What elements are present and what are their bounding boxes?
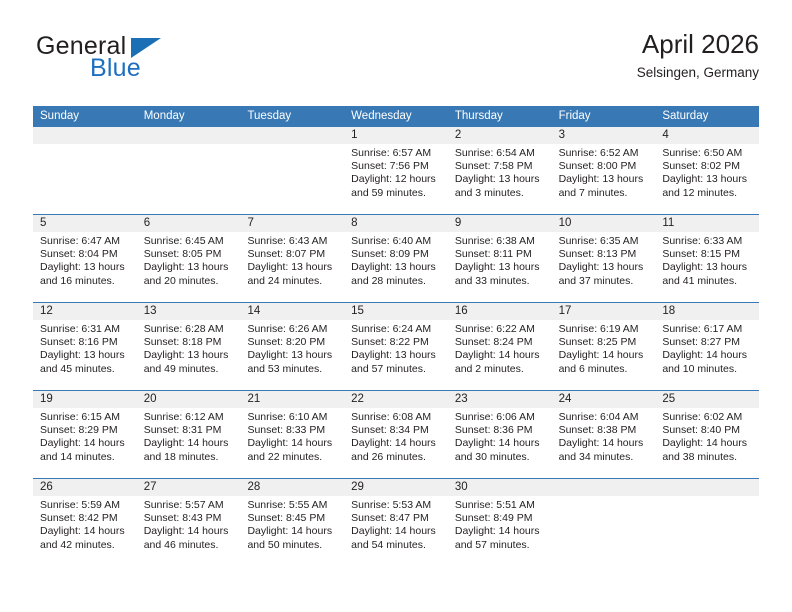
day-cell-29[interactable]: Sunrise: 5:53 AMSunset: 8:47 PMDaylight:… xyxy=(344,496,448,566)
day-info-line: and 45 minutes. xyxy=(40,363,130,376)
day-number-5[interactable]: 5 xyxy=(33,215,137,232)
day-info-line: Sunrise: 6:43 AM xyxy=(247,235,337,248)
day-info-line: Sunrise: 6:28 AM xyxy=(144,323,234,336)
day-cell-empty xyxy=(552,496,656,566)
day-info-line: Sunset: 8:07 PM xyxy=(247,248,337,261)
day-info-line: Daylight: 13 hours xyxy=(662,173,752,186)
day-info-line: and 3 minutes. xyxy=(455,187,545,200)
day-info-line: and 20 minutes. xyxy=(144,275,234,288)
day-info-line: Sunrise: 5:55 AM xyxy=(247,499,337,512)
day-cell-10[interactable]: Sunrise: 6:35 AMSunset: 8:13 PMDaylight:… xyxy=(552,232,656,302)
day-info-line: and 50 minutes. xyxy=(247,539,337,552)
day-info-line: Sunrise: 6:22 AM xyxy=(455,323,545,336)
day-info-line: Sunrise: 6:08 AM xyxy=(351,411,441,424)
day-number-11[interactable]: 11 xyxy=(655,215,759,232)
calendar-week-row: 19202122232425Sunrise: 6:15 AMSunset: 8:… xyxy=(33,390,759,478)
day-cell-empty xyxy=(240,144,344,214)
day-info-line: Sunrise: 6:02 AM xyxy=(662,411,752,424)
day-info-line: Daylight: 13 hours xyxy=(247,261,337,274)
day-cell-26[interactable]: Sunrise: 5:59 AMSunset: 8:42 PMDaylight:… xyxy=(33,496,137,566)
day-cell-3[interactable]: Sunrise: 6:52 AMSunset: 8:00 PMDaylight:… xyxy=(552,144,656,214)
day-info-line: Daylight: 13 hours xyxy=(455,173,545,186)
week-date-strip: 19202122232425 xyxy=(33,391,759,408)
day-info-line: Sunset: 7:58 PM xyxy=(455,160,545,173)
day-cell-empty xyxy=(33,144,137,214)
day-info-line: Sunrise: 6:52 AM xyxy=(559,147,649,160)
day-info-line: Sunrise: 6:50 AM xyxy=(662,147,752,160)
day-number-22[interactable]: 22 xyxy=(344,391,448,408)
brand-logo[interactable]: General Blue xyxy=(33,32,263,90)
day-of-week-header: SundayMondayTuesdayWednesdayThursdayFrid… xyxy=(33,106,759,127)
day-info-line: and 34 minutes. xyxy=(559,451,649,464)
page-title: April 2026 xyxy=(637,28,759,60)
day-info-line: Daylight: 13 hours xyxy=(351,349,441,362)
day-cell-4[interactable]: Sunrise: 6:50 AMSunset: 8:02 PMDaylight:… xyxy=(655,144,759,214)
day-number-empty xyxy=(552,479,656,496)
day-info-line: Daylight: 14 hours xyxy=(144,525,234,538)
day-cell-21[interactable]: Sunrise: 6:10 AMSunset: 8:33 PMDaylight:… xyxy=(240,408,344,478)
day-number-empty xyxy=(240,127,344,144)
day-cell-27[interactable]: Sunrise: 5:57 AMSunset: 8:43 PMDaylight:… xyxy=(137,496,241,566)
day-info-line: Sunrise: 6:12 AM xyxy=(144,411,234,424)
day-of-week-saturday: Saturday xyxy=(655,106,759,127)
day-info-line: Daylight: 13 hours xyxy=(40,349,130,362)
day-info-line: and 42 minutes. xyxy=(40,539,130,552)
day-number-7[interactable]: 7 xyxy=(240,215,344,232)
day-info-line: Sunrise: 6:10 AM xyxy=(247,411,337,424)
day-info-line: Sunset: 8:05 PM xyxy=(144,248,234,261)
day-info-line: Sunset: 8:00 PM xyxy=(559,160,649,173)
day-number-30[interactable]: 30 xyxy=(448,479,552,496)
day-cell-5[interactable]: Sunrise: 6:47 AMSunset: 8:04 PMDaylight:… xyxy=(33,232,137,302)
day-info-line: Sunrise: 6:17 AM xyxy=(662,323,752,336)
day-cell-11[interactable]: Sunrise: 6:33 AMSunset: 8:15 PMDaylight:… xyxy=(655,232,759,302)
day-info-line: and 37 minutes. xyxy=(559,275,649,288)
day-info-line: Daylight: 14 hours xyxy=(559,437,649,450)
day-number-16[interactable]: 16 xyxy=(448,303,552,320)
day-cell-22[interactable]: Sunrise: 6:08 AMSunset: 8:34 PMDaylight:… xyxy=(344,408,448,478)
calendar-page: General Blue April 2026 Selsingen, Germa… xyxy=(0,0,792,612)
day-cell-7[interactable]: Sunrise: 6:43 AMSunset: 8:07 PMDaylight:… xyxy=(240,232,344,302)
day-info-line: Sunset: 8:20 PM xyxy=(247,336,337,349)
day-cell-8[interactable]: Sunrise: 6:40 AMSunset: 8:09 PMDaylight:… xyxy=(344,232,448,302)
day-number-empty xyxy=(137,127,241,144)
day-info-line: Sunrise: 6:06 AM xyxy=(455,411,545,424)
day-info-line: and 46 minutes. xyxy=(144,539,234,552)
title-block: April 2026 Selsingen, Germany xyxy=(637,28,759,83)
calendar-weeks: 1234Sunrise: 6:57 AMSunset: 7:56 PMDayli… xyxy=(33,127,759,566)
day-info-line: Sunset: 7:56 PM xyxy=(351,160,441,173)
day-info-line: and 6 minutes. xyxy=(559,363,649,376)
day-info-line: and 41 minutes. xyxy=(662,275,752,288)
day-cell-empty xyxy=(137,144,241,214)
day-info-line: Daylight: 13 hours xyxy=(559,261,649,274)
day-info-line: and 54 minutes. xyxy=(351,539,441,552)
day-number-10[interactable]: 10 xyxy=(552,215,656,232)
day-number-6[interactable]: 6 xyxy=(137,215,241,232)
day-info-line: Daylight: 13 hours xyxy=(40,261,130,274)
day-info-line: and 22 minutes. xyxy=(247,451,337,464)
day-info-line: Daylight: 13 hours xyxy=(559,173,649,186)
day-number-3[interactable]: 3 xyxy=(552,127,656,144)
day-info-line: Daylight: 14 hours xyxy=(144,437,234,450)
day-number-9[interactable]: 9 xyxy=(448,215,552,232)
page-header: General Blue April 2026 Selsingen, Germa… xyxy=(33,28,759,100)
day-info-line: Sunset: 8:40 PM xyxy=(662,424,752,437)
day-info-line: Sunset: 8:24 PM xyxy=(455,336,545,349)
day-cell-23[interactable]: Sunrise: 6:06 AMSunset: 8:36 PMDaylight:… xyxy=(448,408,552,478)
day-number-23[interactable]: 23 xyxy=(448,391,552,408)
day-info-line: Daylight: 13 hours xyxy=(662,261,752,274)
day-number-8[interactable]: 8 xyxy=(344,215,448,232)
day-number-28[interactable]: 28 xyxy=(240,479,344,496)
day-info-line: and 7 minutes. xyxy=(559,187,649,200)
day-info-line: Sunset: 8:36 PM xyxy=(455,424,545,437)
day-cell-18[interactable]: Sunrise: 6:17 AMSunset: 8:27 PMDaylight:… xyxy=(655,320,759,390)
day-info-line: Sunset: 8:18 PM xyxy=(144,336,234,349)
day-info-line: Daylight: 14 hours xyxy=(351,437,441,450)
day-info-line: and 10 minutes. xyxy=(662,363,752,376)
day-info-line: Sunrise: 5:51 AM xyxy=(455,499,545,512)
calendar-week-row: 1234Sunrise: 6:57 AMSunset: 7:56 PMDayli… xyxy=(33,127,759,214)
day-of-week-tuesday: Tuesday xyxy=(240,106,344,127)
day-info-line: Sunrise: 5:59 AM xyxy=(40,499,130,512)
day-info-line: Sunset: 8:15 PM xyxy=(662,248,752,261)
day-number-20[interactable]: 20 xyxy=(137,391,241,408)
day-cell-24[interactable]: Sunrise: 6:04 AMSunset: 8:38 PMDaylight:… xyxy=(552,408,656,478)
day-info-line: and 18 minutes. xyxy=(144,451,234,464)
day-number-empty xyxy=(33,127,137,144)
day-info-line: Daylight: 14 hours xyxy=(662,349,752,362)
day-of-week-wednesday: Wednesday xyxy=(344,106,448,127)
day-info-line: Sunset: 8:09 PM xyxy=(351,248,441,261)
day-info-line: Daylight: 14 hours xyxy=(247,525,337,538)
day-info-line: Sunset: 8:49 PM xyxy=(455,512,545,525)
day-number-1[interactable]: 1 xyxy=(344,127,448,144)
calendar-grid: SundayMondayTuesdayWednesdayThursdayFrid… xyxy=(33,106,759,566)
day-info-line: Sunset: 8:04 PM xyxy=(40,248,130,261)
day-info-line: and 2 minutes. xyxy=(455,363,545,376)
day-info-line: Sunset: 8:43 PM xyxy=(144,512,234,525)
day-info-line: Daylight: 14 hours xyxy=(662,437,752,450)
day-info-line: and 24 minutes. xyxy=(247,275,337,288)
day-of-week-monday: Monday xyxy=(137,106,241,127)
day-info-line: Sunset: 8:47 PM xyxy=(351,512,441,525)
day-info-line: and 59 minutes. xyxy=(351,187,441,200)
day-cell-19[interactable]: Sunrise: 6:15 AMSunset: 8:29 PMDaylight:… xyxy=(33,408,137,478)
day-number-empty xyxy=(655,479,759,496)
day-cell-6[interactable]: Sunrise: 6:45 AMSunset: 8:05 PMDaylight:… xyxy=(137,232,241,302)
day-cell-16[interactable]: Sunrise: 6:22 AMSunset: 8:24 PMDaylight:… xyxy=(448,320,552,390)
day-info-line: Daylight: 13 hours xyxy=(144,261,234,274)
day-info-line: Sunrise: 6:47 AM xyxy=(40,235,130,248)
day-number-13[interactable]: 13 xyxy=(137,303,241,320)
day-info-line: and 28 minutes. xyxy=(351,275,441,288)
day-info-line: Daylight: 12 hours xyxy=(351,173,441,186)
day-info-line: Sunset: 8:38 PM xyxy=(559,424,649,437)
day-number-21[interactable]: 21 xyxy=(240,391,344,408)
day-info-line: Daylight: 13 hours xyxy=(144,349,234,362)
day-info-line: Sunrise: 6:54 AM xyxy=(455,147,545,160)
day-info-line: Sunrise: 6:31 AM xyxy=(40,323,130,336)
day-info-line: Sunset: 8:02 PM xyxy=(662,160,752,173)
day-cell-12[interactable]: Sunrise: 6:31 AMSunset: 8:16 PMDaylight:… xyxy=(33,320,137,390)
day-info-line: Sunrise: 6:57 AM xyxy=(351,147,441,160)
day-number-19[interactable]: 19 xyxy=(33,391,137,408)
week-detail-strip: Sunrise: 5:59 AMSunset: 8:42 PMDaylight:… xyxy=(33,496,759,566)
week-date-strip: 567891011 xyxy=(33,215,759,232)
day-info-line: and 30 minutes. xyxy=(455,451,545,464)
page-subtitle: Selsingen, Germany xyxy=(637,63,759,83)
day-info-line: Sunset: 8:22 PM xyxy=(351,336,441,349)
day-info-line: Sunset: 8:31 PM xyxy=(144,424,234,437)
day-number-15[interactable]: 15 xyxy=(344,303,448,320)
day-info-line: Daylight: 13 hours xyxy=(247,349,337,362)
day-info-line: Daylight: 14 hours xyxy=(455,437,545,450)
day-number-24[interactable]: 24 xyxy=(552,391,656,408)
day-cell-28[interactable]: Sunrise: 5:55 AMSunset: 8:45 PMDaylight:… xyxy=(240,496,344,566)
week-detail-strip: Sunrise: 6:57 AMSunset: 7:56 PMDaylight:… xyxy=(33,144,759,214)
day-info-line: Sunset: 8:13 PM xyxy=(559,248,649,261)
day-cell-empty xyxy=(655,496,759,566)
day-info-line: and 57 minutes. xyxy=(455,539,545,552)
day-info-line: Sunset: 8:25 PM xyxy=(559,336,649,349)
day-number-2[interactable]: 2 xyxy=(448,127,552,144)
day-info-line: and 26 minutes. xyxy=(351,451,441,464)
day-info-line: and 12 minutes. xyxy=(662,187,752,200)
day-info-line: Sunset: 8:42 PM xyxy=(40,512,130,525)
day-cell-1[interactable]: Sunrise: 6:57 AMSunset: 7:56 PMDaylight:… xyxy=(344,144,448,214)
day-number-27[interactable]: 27 xyxy=(137,479,241,496)
day-cell-2[interactable]: Sunrise: 6:54 AMSunset: 7:58 PMDaylight:… xyxy=(448,144,552,214)
day-info-line: Sunrise: 5:57 AM xyxy=(144,499,234,512)
day-info-line: Sunrise: 6:33 AM xyxy=(662,235,752,248)
day-info-line: and 38 minutes. xyxy=(662,451,752,464)
day-info-line: and 49 minutes. xyxy=(144,363,234,376)
day-info-line: Daylight: 14 hours xyxy=(455,525,545,538)
day-info-line: Sunrise: 6:19 AM xyxy=(559,323,649,336)
day-info-line: and 53 minutes. xyxy=(247,363,337,376)
day-info-line: and 14 minutes. xyxy=(40,451,130,464)
day-info-line: Sunrise: 6:45 AM xyxy=(144,235,234,248)
day-number-14[interactable]: 14 xyxy=(240,303,344,320)
calendar-week-row: 12131415161718Sunrise: 6:31 AMSunset: 8:… xyxy=(33,302,759,390)
day-number-17[interactable]: 17 xyxy=(552,303,656,320)
day-cell-30[interactable]: Sunrise: 5:51 AMSunset: 8:49 PMDaylight:… xyxy=(448,496,552,566)
day-number-26[interactable]: 26 xyxy=(33,479,137,496)
day-info-line: Sunrise: 5:53 AM xyxy=(351,499,441,512)
week-detail-strip: Sunrise: 6:15 AMSunset: 8:29 PMDaylight:… xyxy=(33,408,759,478)
day-cell-15[interactable]: Sunrise: 6:24 AMSunset: 8:22 PMDaylight:… xyxy=(344,320,448,390)
week-date-strip: 2627282930 xyxy=(33,479,759,496)
day-info-line: Daylight: 14 hours xyxy=(40,525,130,538)
calendar-week-row: 2627282930Sunrise: 5:59 AMSunset: 8:42 P… xyxy=(33,478,759,566)
day-info-line: and 57 minutes. xyxy=(351,363,441,376)
day-info-line: Sunrise: 6:04 AM xyxy=(559,411,649,424)
day-info-line: Sunrise: 6:24 AM xyxy=(351,323,441,336)
week-detail-strip: Sunrise: 6:47 AMSunset: 8:04 PMDaylight:… xyxy=(33,232,759,302)
day-number-4[interactable]: 4 xyxy=(655,127,759,144)
day-info-line: Daylight: 13 hours xyxy=(351,261,441,274)
day-of-week-sunday: Sunday xyxy=(33,106,137,127)
day-number-18[interactable]: 18 xyxy=(655,303,759,320)
day-number-29[interactable]: 29 xyxy=(344,479,448,496)
day-cell-20[interactable]: Sunrise: 6:12 AMSunset: 8:31 PMDaylight:… xyxy=(137,408,241,478)
day-cell-13[interactable]: Sunrise: 6:28 AMSunset: 8:18 PMDaylight:… xyxy=(137,320,241,390)
day-info-line: Sunset: 8:16 PM xyxy=(40,336,130,349)
brand-word-blue: Blue xyxy=(90,54,141,83)
day-cell-25[interactable]: Sunrise: 6:02 AMSunset: 8:40 PMDaylight:… xyxy=(655,408,759,478)
day-info-line: Daylight: 14 hours xyxy=(455,349,545,362)
day-info-line: and 33 minutes. xyxy=(455,275,545,288)
day-info-line: Sunrise: 6:15 AM xyxy=(40,411,130,424)
day-info-line: Daylight: 14 hours xyxy=(559,349,649,362)
day-info-line: Sunset: 8:45 PM xyxy=(247,512,337,525)
week-date-strip: 12131415161718 xyxy=(33,303,759,320)
week-detail-strip: Sunrise: 6:31 AMSunset: 8:16 PMDaylight:… xyxy=(33,320,759,390)
day-info-line: Sunset: 8:27 PM xyxy=(662,336,752,349)
day-info-line: Daylight: 14 hours xyxy=(247,437,337,450)
day-info-line: Sunrise: 6:35 AM xyxy=(559,235,649,248)
day-info-line: Sunset: 8:11 PM xyxy=(455,248,545,261)
day-cell-17[interactable]: Sunrise: 6:19 AMSunset: 8:25 PMDaylight:… xyxy=(552,320,656,390)
day-info-line: Daylight: 14 hours xyxy=(351,525,441,538)
day-of-week-thursday: Thursday xyxy=(448,106,552,127)
day-info-line: Sunset: 8:29 PM xyxy=(40,424,130,437)
day-info-line: Sunset: 8:33 PM xyxy=(247,424,337,437)
calendar-week-row: 567891011Sunrise: 6:47 AMSunset: 8:04 PM… xyxy=(33,214,759,302)
day-info-line: Sunrise: 6:26 AM xyxy=(247,323,337,336)
day-number-12[interactable]: 12 xyxy=(33,303,137,320)
day-info-line: Daylight: 13 hours xyxy=(455,261,545,274)
week-date-strip: 1234 xyxy=(33,127,759,144)
day-number-25[interactable]: 25 xyxy=(655,391,759,408)
day-cell-14[interactable]: Sunrise: 6:26 AMSunset: 8:20 PMDaylight:… xyxy=(240,320,344,390)
day-cell-9[interactable]: Sunrise: 6:38 AMSunset: 8:11 PMDaylight:… xyxy=(448,232,552,302)
day-info-line: Sunrise: 6:40 AM xyxy=(351,235,441,248)
day-info-line: Sunset: 8:34 PM xyxy=(351,424,441,437)
day-info-line: Sunrise: 6:38 AM xyxy=(455,235,545,248)
day-info-line: and 16 minutes. xyxy=(40,275,130,288)
day-info-line: Daylight: 14 hours xyxy=(40,437,130,450)
day-of-week-friday: Friday xyxy=(552,106,656,127)
